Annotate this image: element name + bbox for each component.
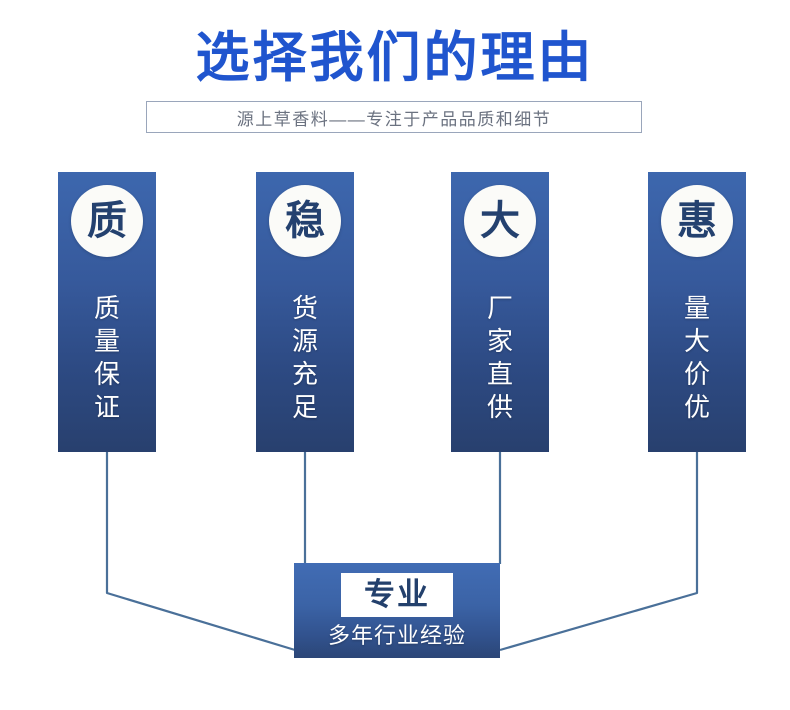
feature-card-label: 量大价优	[648, 292, 746, 424]
connector-line-card-4	[500, 452, 697, 650]
feature-card-label-char: 保	[94, 358, 120, 391]
subtitle-box: 源上草香料——专注于产品品质和细节	[146, 101, 642, 133]
feature-card-label-char: 厂	[487, 292, 513, 325]
feature-card-badge: 惠	[661, 185, 733, 257]
feature-card[interactable]: 惠量大价优	[648, 172, 746, 452]
connector-line-card-1	[107, 452, 295, 650]
feature-card-label-char: 货	[292, 292, 318, 325]
feature-card-label-char: 家	[487, 325, 513, 358]
feature-card-label-char: 证	[94, 391, 120, 424]
feature-card-badge: 质	[71, 185, 143, 257]
feature-card-label: 质量保证	[58, 292, 156, 424]
feature-card-label: 货源充足	[256, 292, 354, 424]
header-block: 选择我们的理由 源上草香料——专注于产品品质和细节	[0, 0, 790, 150]
feature-card[interactable]: 大厂家直供	[451, 172, 549, 452]
feature-card-label-char: 优	[684, 391, 710, 424]
feature-card-label-char: 价	[684, 358, 710, 391]
subtitle-text: 源上草香料——专注于产品品质和细节	[237, 105, 552, 130]
feature-card-label-char: 量	[684, 292, 710, 325]
feature-card-label-char: 足	[292, 391, 318, 424]
feature-card-badge: 稳	[269, 185, 341, 257]
feature-card-label-char: 充	[292, 358, 318, 391]
summary-box: 专业 多年行业经验	[294, 563, 500, 658]
summary-plate: 专业	[341, 573, 453, 617]
summary-caption: 多年行业经验	[294, 621, 500, 651]
feature-card-badge-char: 大	[480, 201, 520, 241]
feature-card-label-char: 源	[292, 325, 318, 358]
feature-card-label-char: 供	[487, 391, 513, 424]
feature-card-badge-char: 惠	[677, 201, 717, 241]
page-title: 选择我们的理由	[0, 28, 790, 88]
feature-card-label-char: 量	[94, 325, 120, 358]
feature-card[interactable]: 稳货源充足	[256, 172, 354, 452]
feature-card[interactable]: 质质量保证	[58, 172, 156, 452]
feature-card-label-char: 大	[684, 325, 710, 358]
feature-card-badge-char: 稳	[285, 201, 325, 241]
feature-card-label-char: 质	[94, 292, 120, 325]
feature-card-label: 厂家直供	[451, 292, 549, 424]
summary-plate-text: 专业	[364, 578, 430, 612]
feature-card-badge: 大	[464, 185, 536, 257]
feature-card-badge-char: 质	[87, 201, 127, 241]
feature-card-label-char: 直	[487, 358, 513, 391]
